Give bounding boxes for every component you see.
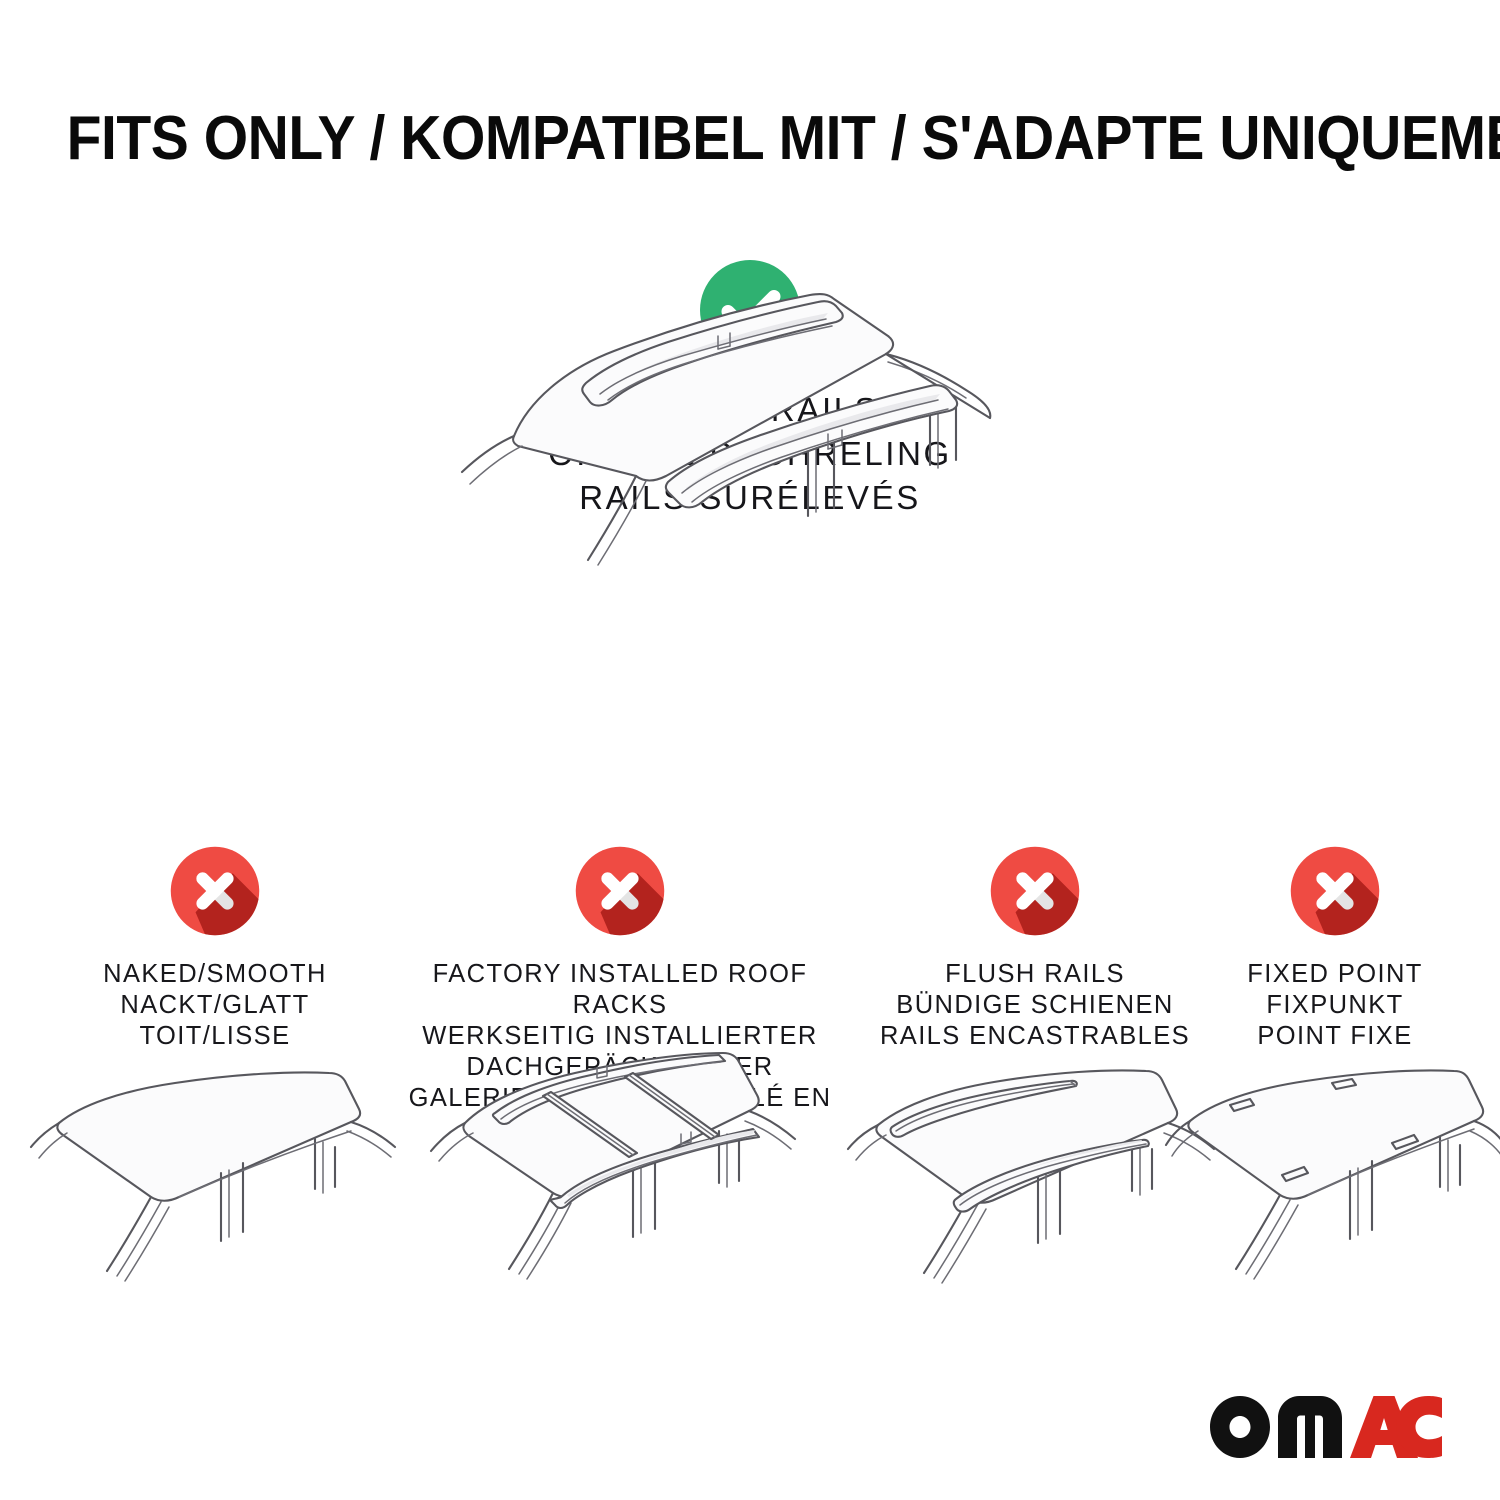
- incompatible-item-fixed-point: FIXED POINT FIXPUNKT POINT FIXE: [1210, 845, 1460, 1052]
- cross-circle-icon: [1289, 845, 1381, 937]
- omac-logo-mark: [1210, 1396, 1442, 1458]
- cross-icon-wrap: [840, 845, 1230, 945]
- car-roof-naked-smooth-illustration: [29, 1057, 401, 1292]
- cross-icon-wrap: [400, 845, 840, 945]
- incompatible-section: NAKED/SMOOTH NACKT/GLATT TOIT/LISSE: [0, 845, 1500, 1295]
- incompatible-item-factory-racks: FACTORY INSTALLED ROOF RACKS WERKSEITIG …: [400, 845, 840, 1145]
- page-title: FITS ONLY / KOMPATIBEL MIT / S'ADAPTE UN…: [67, 108, 1500, 170]
- car-roof-fixed-point-illustration: [1164, 1057, 1500, 1292]
- incompatible-label-naked-smooth: NAKED/SMOOTH NACKT/GLATT TOIT/LISSE: [20, 959, 410, 1052]
- page-title-bar: FITS ONLY / KOMPATIBEL MIT / S'ADAPTE UN…: [0, 108, 1500, 170]
- compatibility-infographic: FITS ONLY / KOMPATIBEL MIT / S'ADAPTE UN…: [0, 0, 1500, 1500]
- car-roof-raised-rails-illustration: [418, 250, 1088, 575]
- cross-circle-icon: [989, 845, 1081, 937]
- cross-circle-icon: [169, 845, 261, 937]
- cross-icon-wrap: [1210, 845, 1460, 945]
- incompatible-label-fixed-point: FIXED POINT FIXPUNKT POINT FIXE: [1210, 959, 1460, 1052]
- omac-logo: [1210, 1396, 1442, 1458]
- car-roof-factory-racks-illustration: [419, 1041, 821, 1291]
- incompatible-item-flush-rails: FLUSH RAILS BÜNDIGE SCHIENEN RAILS ENCAS…: [840, 845, 1230, 1052]
- cross-circle-icon: [574, 845, 666, 937]
- incompatible-label-flush-rails: FLUSH RAILS BÜNDIGE SCHIENEN RAILS ENCAS…: [840, 959, 1230, 1052]
- cross-icon-wrap: [20, 845, 410, 945]
- incompatible-item-naked-smooth: NAKED/SMOOTH NACKT/GLATT TOIT/LISSE: [20, 845, 410, 1052]
